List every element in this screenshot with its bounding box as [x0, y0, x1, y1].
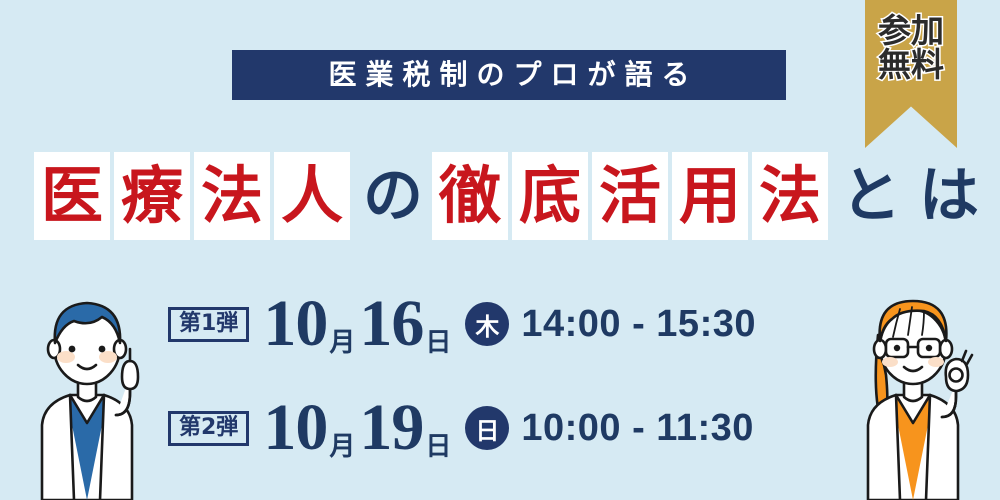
- title-char-10: 法: [752, 152, 828, 240]
- day-number: 16: [359, 291, 423, 357]
- title-char-7: 底: [512, 152, 588, 240]
- weekday-badge: 日: [465, 406, 509, 450]
- session-time: 10:00 - 11:30: [521, 409, 754, 447]
- headline-band: 医業税制のプロが語る: [232, 50, 786, 100]
- title-char-11: と: [834, 152, 908, 240]
- title-char-4: 人: [274, 152, 350, 240]
- month-unit-label: 月: [329, 330, 355, 356]
- title-char-5: の: [356, 152, 430, 240]
- title-char-1: 医: [34, 152, 110, 240]
- title-char-6: 徹: [432, 152, 508, 240]
- session-badge: 第2弾: [168, 411, 249, 446]
- weekday-badge: 木: [465, 302, 509, 346]
- title-char-12: は: [912, 152, 986, 240]
- month-unit-label: 月: [329, 434, 355, 460]
- male-doctor-pointing-illustration: [12, 265, 162, 500]
- session-badge: 第1弾: [168, 307, 249, 342]
- ribbon-text: 参加 無料: [876, 14, 946, 81]
- female-doctor-ok-sign-illustration: [838, 265, 988, 500]
- title-char-3: 法: [194, 152, 270, 240]
- free-participation-ribbon: 参加 無料: [865, 0, 957, 148]
- schedule-row: 第2弾10月19日日10:00 - 11:30: [168, 392, 888, 464]
- main-title: 医療法人の徹底活用法とは: [0, 146, 1000, 246]
- month-number: 10: [263, 291, 327, 357]
- headline-text: 医業税制のプロが語る: [319, 61, 698, 89]
- day-unit-label: 日: [425, 330, 451, 356]
- title-char-9: 用: [672, 152, 748, 240]
- session-time: 14:00 - 15:30: [521, 305, 756, 343]
- title-char-8: 活: [592, 152, 668, 240]
- title-char-2: 療: [114, 152, 190, 240]
- day-unit-label: 日: [425, 434, 451, 460]
- month-number: 10: [263, 395, 327, 461]
- schedule-row: 第1弾10月16日木14:00 - 15:30: [168, 288, 888, 360]
- ribbon-line-2: 無料: [876, 48, 946, 82]
- banner-canvas: 医業税制のプロが語る 参加 無料 医療法人の徹底活用法とは 第1弾10月16日木…: [0, 0, 1000, 500]
- ribbon-line-1: 参加: [876, 14, 946, 48]
- schedule-list: 第1弾10月16日木14:00 - 15:30第2弾10月19日日10:00 -…: [168, 288, 888, 496]
- day-number: 19: [359, 395, 423, 461]
